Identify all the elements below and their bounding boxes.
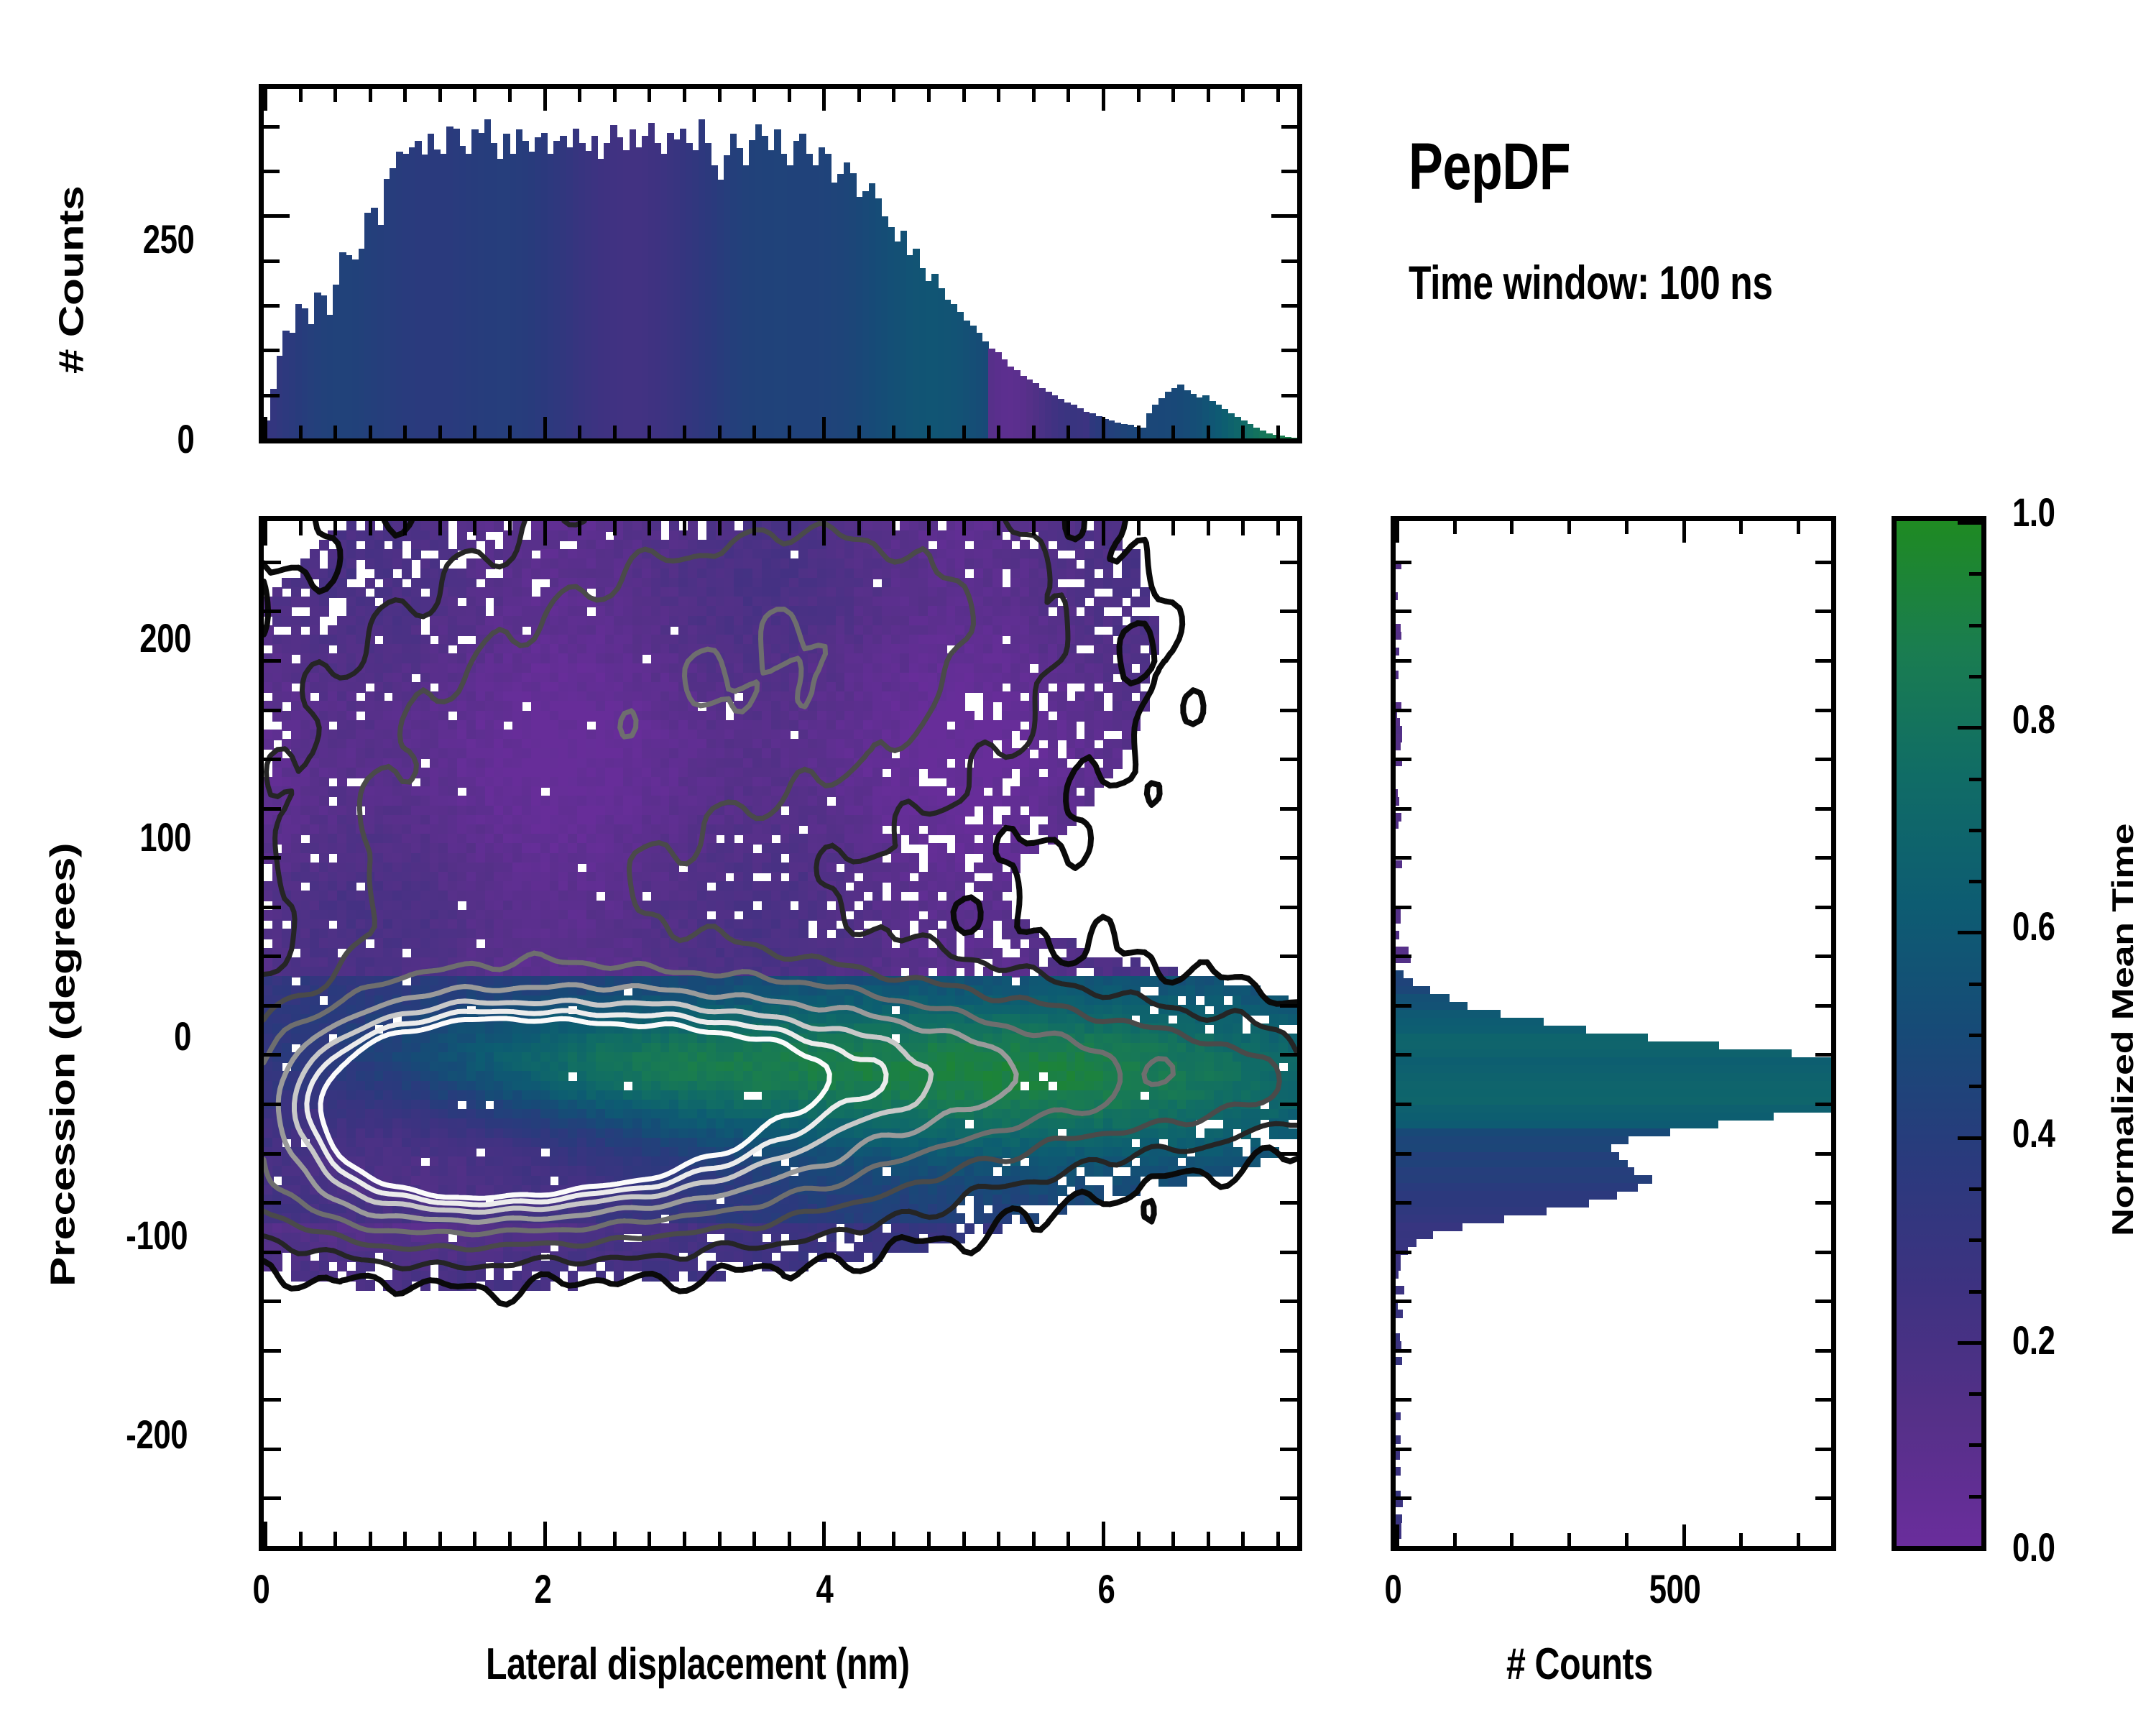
right-hist-xtick-500: 500 <box>1636 1565 1714 1612</box>
right-histogram-bar <box>1396 1530 1401 1539</box>
right-histogram-bar <box>1396 1105 1831 1113</box>
top-hist-ylabel: # Counts <box>52 186 91 374</box>
right-histogram-bar <box>1396 1191 1617 1200</box>
top-hist-ytick-250: 250 <box>93 216 194 262</box>
colorbar-tick-0-6: 0.6 <box>2012 903 2055 949</box>
right-histogram-bar <box>1396 1136 1628 1145</box>
colorbar-tick-0-2: 0.2 <box>2012 1317 2055 1363</box>
right-histogram-bar <box>1396 915 1401 924</box>
right-histogram-bar <box>1396 1270 1399 1279</box>
colorbar-gradient <box>1897 521 1981 1546</box>
figure-title: PepDF <box>1409 129 1570 205</box>
top-histogram-bar <box>1291 438 1297 438</box>
right-histogram-bar <box>1396 860 1402 869</box>
colorbar-tick-0-4: 0.4 <box>2012 1110 2055 1156</box>
right-histogram-bar <box>1396 1057 1831 1066</box>
right-histogram-bar <box>1396 734 1402 742</box>
right-histogram-bar <box>1396 702 1401 711</box>
right-histogram-bar <box>1396 1121 1718 1129</box>
right-histogram-bar <box>1396 710 1397 719</box>
right-histogram-bar <box>1396 1128 1670 1137</box>
main-ytick <box>1280 1546 1297 1550</box>
right-histogram-bar <box>1396 1357 1402 1366</box>
right-histogram-bar <box>1396 1041 1719 1050</box>
top-hist-ytick <box>1271 438 1297 442</box>
right-histogram-bar <box>1396 1302 1398 1310</box>
right-histogram-bar <box>1396 1310 1403 1318</box>
top-marginal-histogram-panel <box>259 84 1302 443</box>
right-histogram-bar <box>1396 1286 1404 1294</box>
right-histogram-bar <box>1396 1018 1544 1026</box>
main-xtick-2: 2 <box>526 1565 560 1612</box>
right-histogram-bar <box>1396 1199 1589 1207</box>
right-histogram-bar <box>1396 592 1398 601</box>
right-histogram-bar <box>1396 954 1411 963</box>
right-histogram-bar <box>1396 931 1399 939</box>
main-ytick-minus200: -200 <box>63 1411 188 1458</box>
main-ylabel: Precession (degrees) <box>43 843 83 1287</box>
colorbar-tick-1-0: 1.0 <box>2012 489 2055 535</box>
right-histogram-bar <box>1396 1491 1401 1499</box>
right-histogram-bar <box>1396 1451 1400 1460</box>
right-hist-xtick-0: 0 <box>1376 1565 1410 1612</box>
right-histogram-bar <box>1396 1175 1652 1184</box>
right-histogram-bar <box>1396 718 1400 727</box>
right-histogram-bar <box>1396 758 1402 766</box>
main-ytick-0: 0 <box>79 1013 191 1059</box>
right-histogram-bar <box>1396 648 1399 656</box>
right-histogram-bar <box>1396 1238 1416 1247</box>
main-xtick-0: 0 <box>244 1565 278 1612</box>
right-histogram-bar <box>1396 813 1401 822</box>
right-histogram-bar <box>1396 742 1401 750</box>
top-histogram-bars <box>264 89 1297 438</box>
colorbar <box>1892 516 1986 1551</box>
right-histogram-bar <box>1396 1514 1402 1523</box>
right-hist-ytick <box>1396 1546 1411 1550</box>
main-heatmap-panel <box>259 516 1302 1551</box>
right-histogram-bar <box>1396 986 1430 995</box>
right-histogram-bar <box>1396 1081 1831 1090</box>
right-histogram-bar <box>1396 1262 1401 1271</box>
right-histogram-bar <box>1396 994 1450 1003</box>
right-histogram-bar <box>1396 632 1401 640</box>
main-ytick-200: 200 <box>79 615 191 661</box>
right-histogram-bar <box>1396 1065 1831 1074</box>
right-histogram-bar <box>1396 1034 1648 1042</box>
heatmap-image <box>264 521 1297 1546</box>
colorbar-label: Normalized Mean Time <box>2106 824 2140 1236</box>
right-histogram-bar <box>1396 1467 1401 1476</box>
right-histogram-bar <box>1396 1113 1774 1121</box>
right-histogram-bar <box>1396 970 1404 979</box>
top-hist-ytick-0: 0 <box>93 415 194 462</box>
right-hist-xlabel: # Counts <box>1506 1639 1653 1690</box>
right-histogram-bar <box>1396 1183 1638 1192</box>
right-histogram-bar <box>1396 947 1409 955</box>
right-histogram-bar <box>1396 1341 1401 1350</box>
right-histogram-bar <box>1396 671 1399 679</box>
right-histogram-bar <box>1396 821 1399 829</box>
right-histogram-bar <box>1396 726 1402 735</box>
right-marginal-histogram-panel <box>1391 516 1836 1551</box>
right-histogram-bar <box>1396 561 1401 569</box>
right-histogram-bar <box>1396 1230 1433 1239</box>
right-hist-ytick <box>1815 1546 1831 1550</box>
figure-root: 250 0 # Counts PepDF Time window: 100 ns… <box>0 0 2156 1725</box>
right-histogram-bar <box>1396 1333 1400 1342</box>
right-histogram-bar <box>1396 1499 1403 1507</box>
right-histogram-bar <box>1396 1207 1547 1215</box>
main-ytick <box>264 1546 281 1550</box>
right-histogram-bar <box>1396 1010 1501 1018</box>
right-histogram-bar <box>1396 1522 1401 1531</box>
right-histogram-bar <box>1396 797 1399 806</box>
figure-subtitle: Time window: 100 ns <box>1409 255 1773 310</box>
right-histogram-bar <box>1396 1246 1408 1255</box>
colorbar-tick-0-0: 0.0 <box>2012 1524 2055 1570</box>
right-histogram-bar <box>1396 1152 1619 1161</box>
right-histogram-bar <box>1396 1215 1504 1223</box>
right-histogram-bar <box>1396 1144 1611 1153</box>
right-histogram-bar <box>1396 978 1413 987</box>
right-histogram-bar <box>1396 624 1401 632</box>
right-histogram-bar <box>1396 907 1401 916</box>
right-histogram-bar <box>1396 1073 1831 1082</box>
right-histogram-bar <box>1396 1223 1462 1231</box>
colorbar-tick-0-8: 0.8 <box>2012 696 2055 742</box>
main-xtick-6: 6 <box>1089 1565 1123 1612</box>
right-histogram-bar <box>1396 1160 1628 1169</box>
top-hist-ytick <box>264 438 290 442</box>
main-xlabel: Lateral displacement (nm) <box>486 1639 910 1690</box>
main-xtick-4: 4 <box>808 1565 842 1612</box>
right-histogram-bar <box>1396 1412 1401 1421</box>
right-histogram-bar <box>1396 1167 1634 1176</box>
right-histogram-bar <box>1396 789 1398 798</box>
right-histogram-bar <box>1396 1002 1468 1011</box>
right-histogram-bar <box>1396 1435 1401 1444</box>
right-histogram-bar <box>1396 1049 1792 1058</box>
right-histogram-bar <box>1396 1089 1831 1098</box>
right-histogram-bar <box>1396 1254 1401 1263</box>
right-histogram-bars <box>1396 521 1831 1546</box>
right-histogram-bar <box>1396 1097 1831 1105</box>
right-histogram-bar <box>1396 1026 1586 1034</box>
main-ytick-100: 100 <box>79 814 191 860</box>
